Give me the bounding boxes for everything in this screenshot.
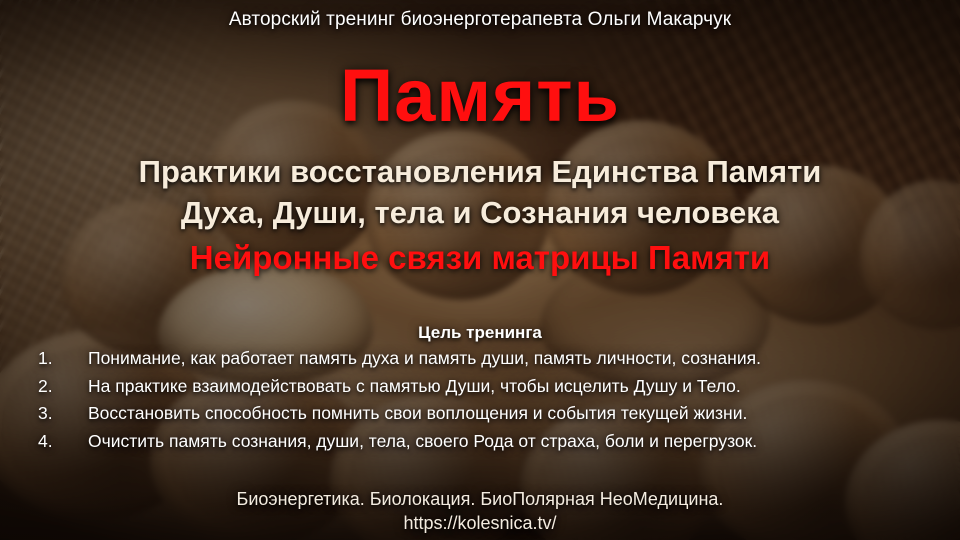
list-item-text: Очистить память сознания, души, тела, св…: [88, 428, 928, 456]
list-item-text: На практике взаимодействовать с памятью …: [88, 373, 928, 401]
list-item-text: Восстановить способность помнить свои во…: [88, 400, 928, 428]
list-item-number: 4.: [38, 428, 88, 456]
list-item: 4. Очистить память сознания, души, тела,…: [38, 428, 928, 456]
slide-subtitle-line-2: Духа, Души, тела и Сознания человека: [0, 193, 960, 233]
presentation-slide: Авторский тренинг биоэнерготерапевта Оль…: [0, 0, 960, 540]
slide-subtitle-line-1: Практики восстановления Единства Памяти: [0, 152, 960, 192]
slide-main-title: Память: [0, 56, 960, 136]
list-item-number: 3.: [38, 400, 88, 428]
list-item-text: Понимание, как работает память духа и па…: [88, 345, 928, 373]
list-item: 1. Понимание, как работает память духа и…: [38, 345, 928, 373]
goal-section-heading: Цель тренинга: [0, 322, 960, 344]
list-item: 2. На практике взаимодействовать с памят…: [38, 373, 928, 401]
footer-website-url[interactable]: https://kolesnica.tv/: [0, 511, 960, 535]
slide-content: Авторский тренинг биоэнерготерапевта Оль…: [0, 0, 960, 540]
presenter-credit-line: Авторский тренинг биоэнерготерапевта Оль…: [0, 8, 960, 32]
footer-disciplines-line: Биоэнергетика. Биолокация. БиоПолярная Н…: [0, 487, 960, 511]
list-item: 3. Восстановить способность помнить свои…: [38, 400, 928, 428]
list-item-number: 2.: [38, 373, 88, 401]
goal-list: 1. Понимание, как работает память духа и…: [38, 345, 928, 455]
list-item-number: 1.: [38, 345, 88, 373]
slide-subtitle-accent: Нейронные связи матрицы Памяти: [0, 237, 960, 279]
